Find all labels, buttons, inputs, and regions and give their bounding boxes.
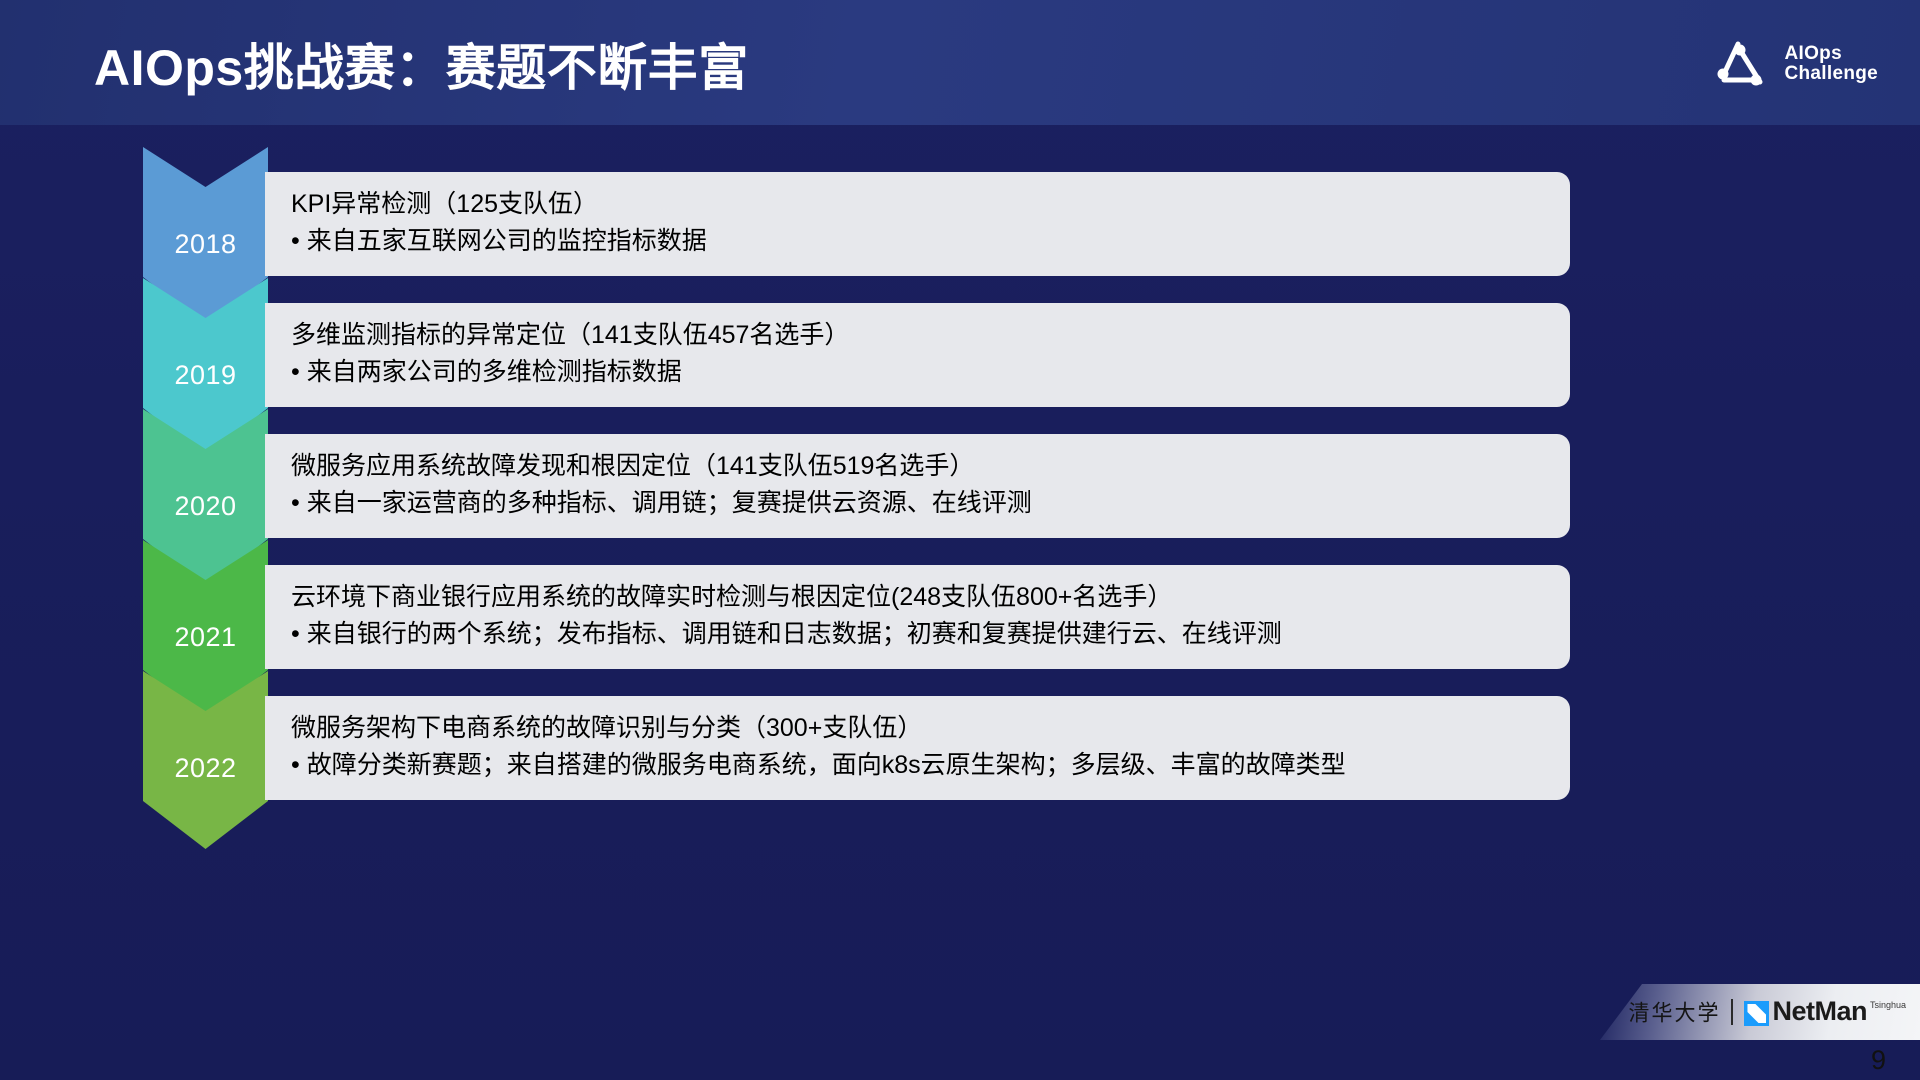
timeline: 2018KPI异常检测（125支队伍）• 来自五家互联网公司的监控指标数据201…	[0, 125, 1920, 1080]
aiops-triangle-icon	[1714, 40, 1772, 88]
panel-title: KPI异常检测（125支队伍）	[291, 188, 1544, 221]
panel-bullet: • 来自一家运营商的多种指标、调用链；复赛提供云资源、在线评测	[291, 487, 1544, 520]
timeline-panel: 多维监测指标的异常定位（141支队伍457名选手）• 来自两家公司的多维检测指标…	[265, 303, 1570, 407]
panel-bullet: • 来自两家公司的多维检测指标数据	[291, 356, 1544, 389]
page-title: AIOps挑战赛：赛题不断丰富	[94, 28, 749, 100]
brand-text: AIOps Challenge	[1785, 44, 1879, 84]
panel-bullet: • 来自五家互联网公司的监控指标数据	[291, 225, 1544, 258]
timeline-panel: KPI异常检测（125支队伍）• 来自五家互联网公司的监控指标数据	[265, 172, 1570, 276]
panel-title: 云环境下商业银行应用系统的故障实时检测与根因定位(248支队伍800+名选手）	[291, 581, 1544, 614]
year-chevron	[143, 671, 268, 849]
logo-divider	[1731, 999, 1733, 1025]
aiops-challenge-logo: AIOps Challenge	[1714, 40, 1879, 88]
netman-wordmark: NetMan	[1772, 998, 1867, 1025]
panel-title: 微服务应用系统故障发现和根因定位（141支队伍519名选手）	[291, 450, 1544, 483]
panel-bullet: • 来自银行的两个系统；发布指标、调用链和日志数据；初赛和复赛提供建行云、在线评…	[291, 618, 1544, 651]
netman-logo: NetMan Tsinghua	[1744, 998, 1906, 1026]
slide-header: AIOps挑战赛：赛题不断丰富 AIOps Challenge	[0, 0, 1920, 125]
tsinghua-university-logo: 清华大学	[1628, 996, 1720, 1028]
brand-line-1: AIOps	[1785, 44, 1879, 64]
panel-title: 多维监测指标的异常定位（141支队伍457名选手）	[291, 319, 1544, 352]
timeline-panel: 微服务应用系统故障发现和根因定位（141支队伍519名选手）• 来自一家运营商的…	[265, 434, 1570, 538]
netman-mark-icon	[1744, 1001, 1769, 1026]
brand-line-2: Challenge	[1785, 64, 1879, 84]
panel-bullet: • 故障分类新赛题；来自搭建的微服务电商系统，面向k8s云原生架构；多层级、丰富…	[291, 749, 1544, 782]
panel-title: 微服务架构下电商系统的故障识别与分类（300+支队伍）	[291, 712, 1544, 745]
footer-logos: 清华大学 NetMan Tsinghua	[1600, 984, 1920, 1040]
slide: AIOps挑战赛：赛题不断丰富 AIOps Challenge 2018KPI异…	[0, 0, 1920, 1080]
netman-superscript: Tsinghua	[1870, 1000, 1906, 1010]
timeline-panel: 云环境下商业银行应用系统的故障实时检测与根因定位(248支队伍800+名选手）•…	[265, 565, 1570, 669]
timeline-panel: 微服务架构下电商系统的故障识别与分类（300+支队伍）• 故障分类新赛题；来自搭…	[265, 696, 1570, 800]
page-number: 9	[1871, 1045, 1886, 1076]
timeline-row: 2022微服务架构下电商系统的故障识别与分类（300+支队伍）• 故障分类新赛题…	[143, 671, 1573, 849]
